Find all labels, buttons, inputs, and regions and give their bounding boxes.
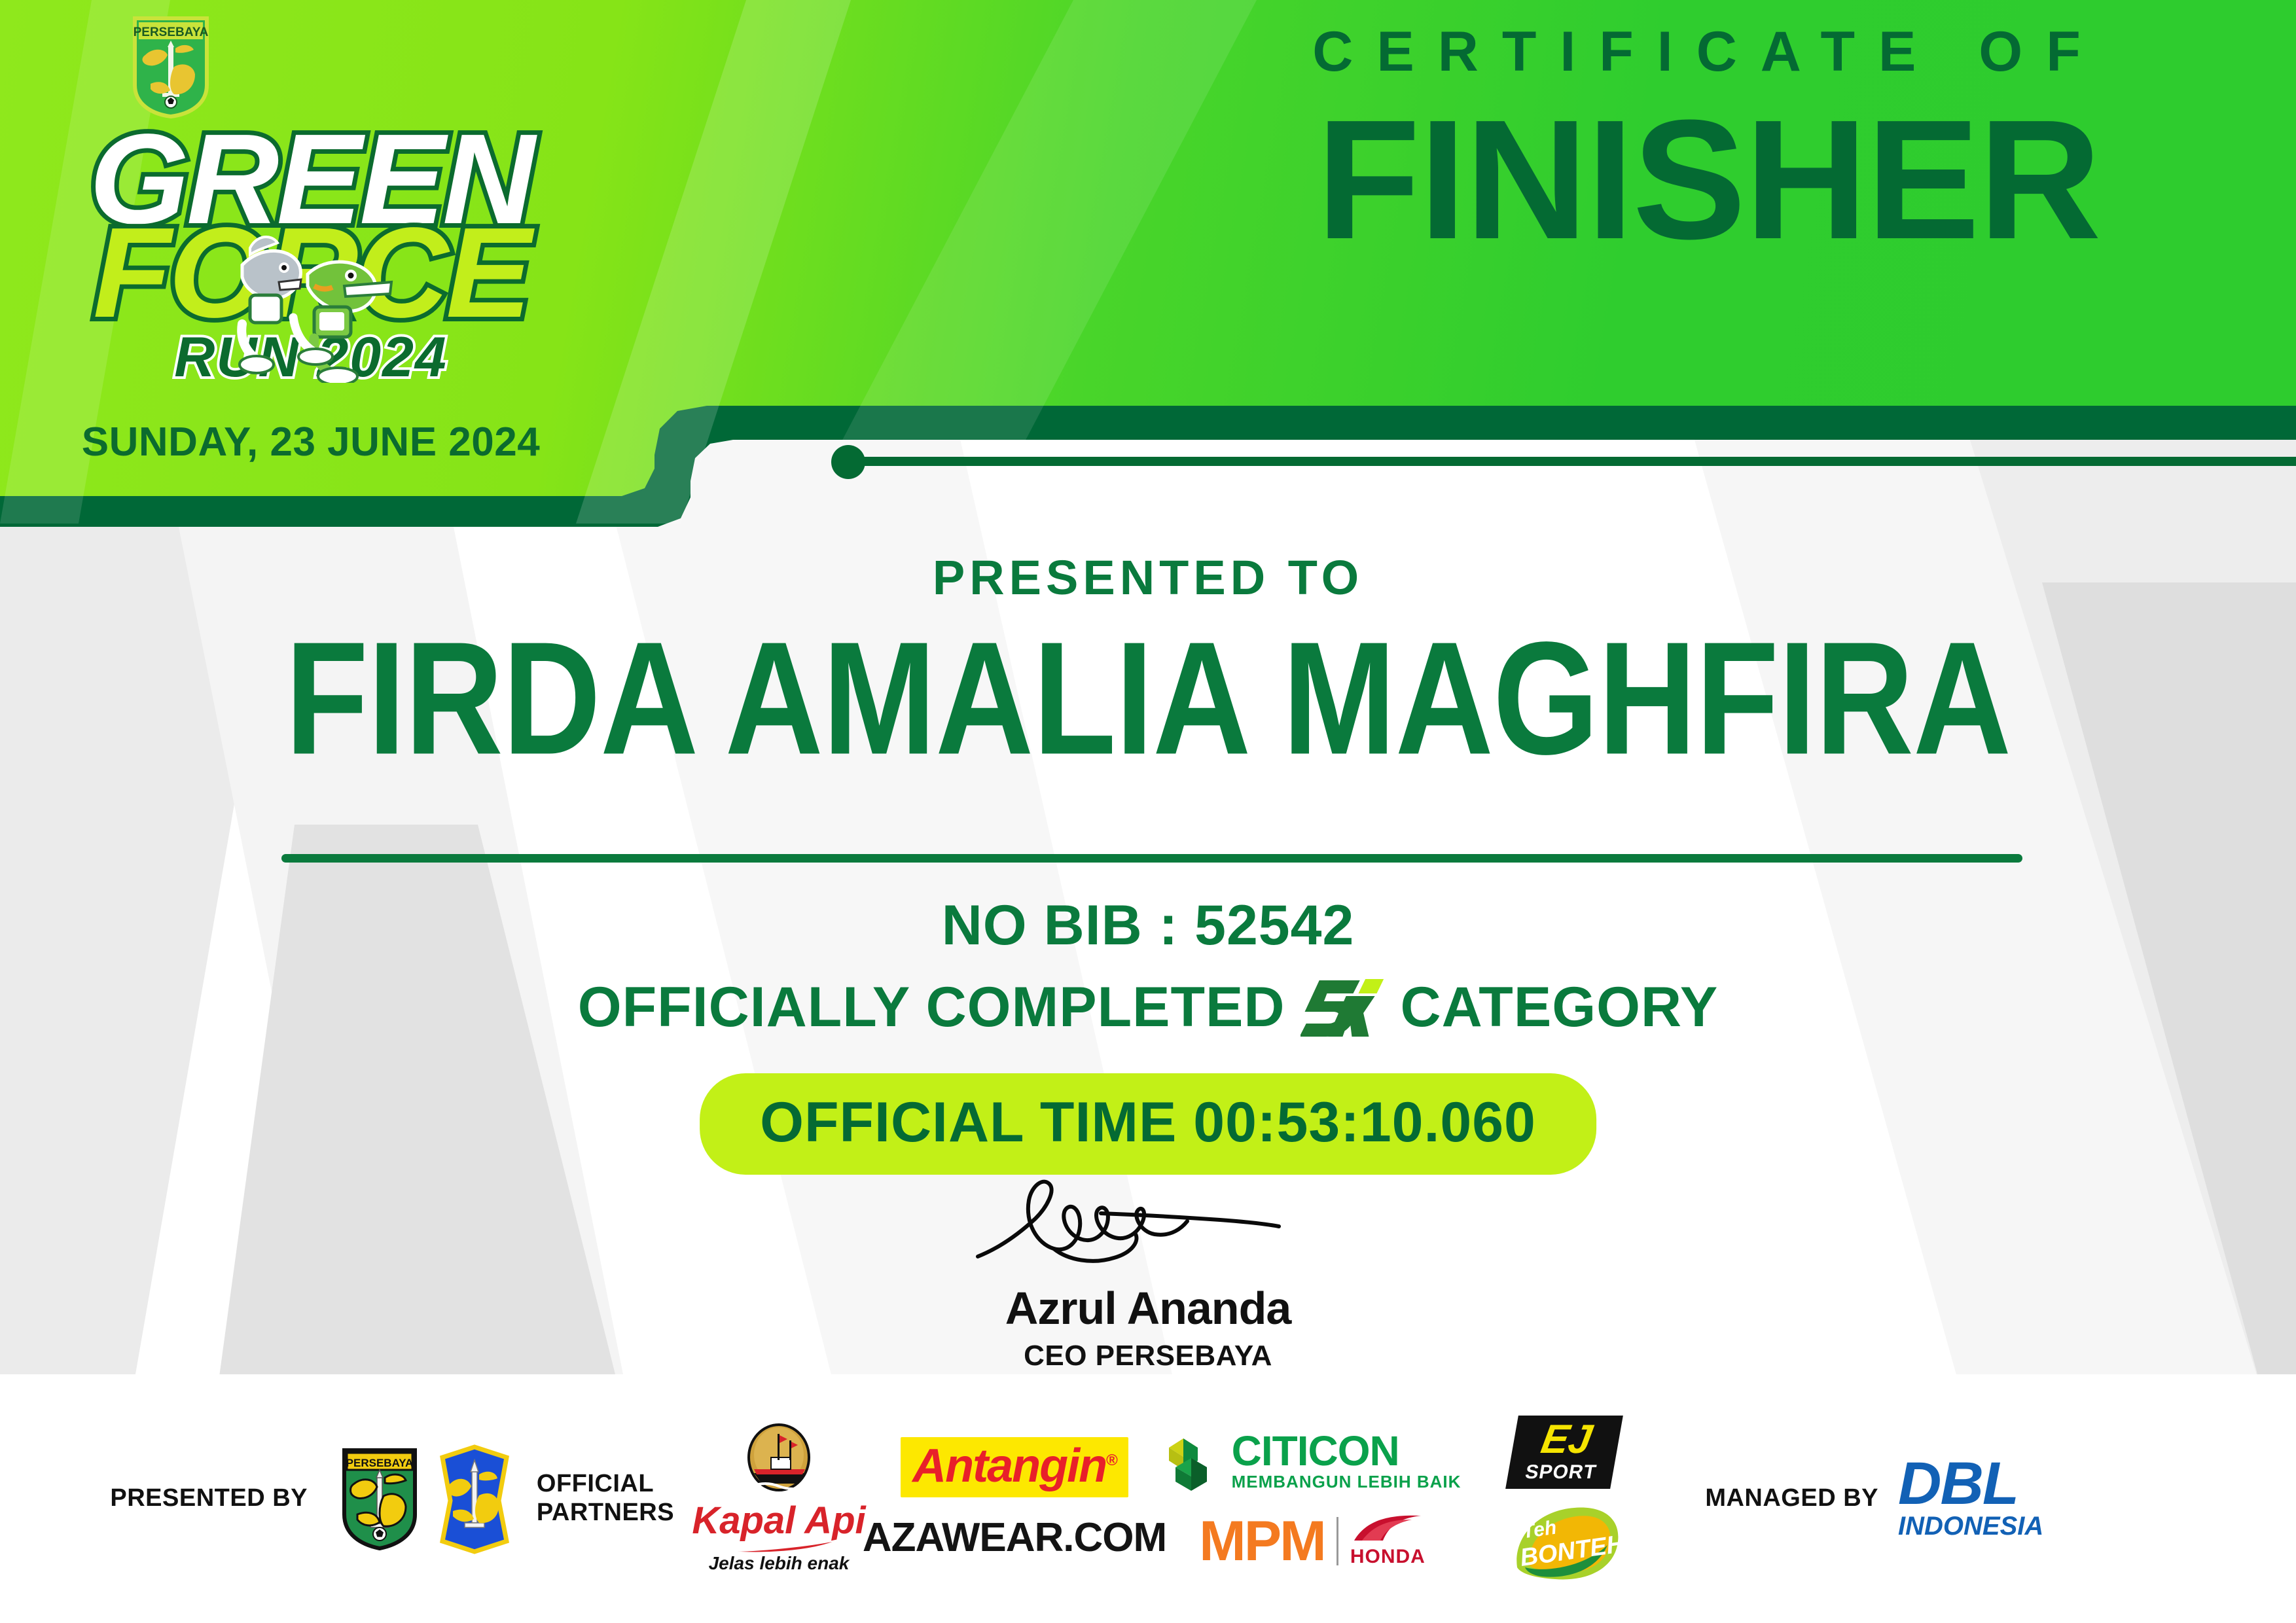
mpm-divider bbox=[1336, 1517, 1338, 1565]
teh-bonteh-logo: Teh BONTEH bbox=[1505, 1505, 1623, 1582]
ej-wordmark: EJ bbox=[1510, 1416, 1623, 1461]
antangin-wordmark: Antangin® bbox=[901, 1437, 1128, 1497]
logo-kapal-api: Kapal Api Jelas lebih enak bbox=[687, 1423, 870, 1574]
antangin-registered-mark: ® bbox=[1106, 1452, 1117, 1469]
managed-by-group: MANAGED BY bbox=[1662, 1484, 1898, 1513]
svg-text:PERSEBAYA: PERSEBAYA bbox=[134, 26, 209, 39]
presented-by-group: PRESENTED BY bbox=[0, 1484, 334, 1513]
accent-dot-icon bbox=[831, 445, 865, 479]
honda-wing-icon bbox=[1352, 1514, 1424, 1546]
teh-bonteh-top: Teh bbox=[1521, 1518, 1558, 1543]
bib-number-line: NO BIB : 52542 bbox=[0, 893, 2296, 958]
citicon-wordmark: CITICON bbox=[1232, 1430, 1462, 1472]
mpm-wordmark: MPM bbox=[1199, 1513, 1325, 1569]
sponsor-footer: PRESENTED BY PERSEBAYA bbox=[0, 1374, 2296, 1623]
honda-logo: HONDA bbox=[1350, 1514, 1426, 1568]
certificate-canvas: PERSEBAYA GREEN FORCE RUN 2024 bbox=[0, 0, 2296, 1623]
persebaya-crest-icon: PERSEBAYA bbox=[131, 14, 211, 119]
presented-to-label: PRESENTED TO bbox=[0, 550, 2296, 605]
mpm-honda-logo: MPM HONDA bbox=[1199, 1513, 1426, 1569]
mascot-runners-icon bbox=[216, 226, 406, 383]
signature-icon bbox=[0, 1171, 2296, 1279]
azawear-wordmark: AZAWEAR.COM bbox=[863, 1514, 1166, 1561]
kapal-api-wordmark: Kapal Api bbox=[692, 1502, 865, 1540]
official-time-badge: OFFICIAL TIME 00:53:10.060 bbox=[700, 1073, 1596, 1175]
antangin-text: Antangin bbox=[912, 1440, 1106, 1492]
signature-block: Azrul Ananda CEO PERSEBAYA bbox=[0, 1171, 2296, 1372]
dbl-wordmark: DBL bbox=[1898, 1456, 2018, 1512]
logo-persebaya: PERSEBAYA bbox=[334, 1446, 425, 1551]
presented-by-label: PRESENTED BY bbox=[110, 1484, 308, 1513]
official-partners-group: OFFICIAL PARTNERS bbox=[524, 1470, 687, 1527]
sponsor-column-antangin-azawear: Antangin® AZAWEAR.COM bbox=[870, 1437, 1158, 1561]
managed-by-label: MANAGED BY bbox=[1705, 1484, 1878, 1513]
logo-dbl-indonesia: DBL INDONESIA bbox=[1898, 1456, 2081, 1541]
dbl-indonesia-sub: INDONESIA bbox=[1898, 1512, 2043, 1541]
svg-text:PERSEBAYA: PERSEBAYA bbox=[346, 1457, 414, 1469]
header-accent-dotline bbox=[831, 445, 2296, 465]
citicon-blocks-icon bbox=[1164, 1428, 1223, 1493]
official-partners-label: OFFICIAL PARTNERS bbox=[537, 1470, 674, 1527]
citicon-tagline: MEMBANGUN LEBIH BAIK bbox=[1232, 1472, 1462, 1492]
official-partners-line1: OFFICIAL bbox=[537, 1470, 674, 1499]
honda-wordmark: HONDA bbox=[1350, 1546, 1426, 1568]
logo-surabaya-city bbox=[425, 1443, 524, 1554]
signatory-name: Azrul Ananda bbox=[0, 1282, 2296, 1334]
category-line: OFFICIALLY COMPLETED CATEGORY bbox=[0, 975, 2296, 1040]
certificate-body: PRESENTED TO FIRDA AMALIA MAGHFIRA NO BI… bbox=[0, 497, 2296, 1374]
certificate-of-label: CERTIFICATE OF bbox=[1165, 20, 2251, 84]
sponsor-column-ej-bonteh: EJ SPORT Teh BONTEH bbox=[1466, 1416, 1662, 1582]
signatory-role: CEO PERSEBAYA bbox=[0, 1340, 2296, 1372]
recipient-name: FIRDA AMALIA MAGHFIRA bbox=[0, 618, 2296, 779]
name-underline-rule bbox=[281, 854, 2022, 863]
event-date: SUNDAY, 23 JUNE 2024 bbox=[39, 419, 583, 465]
kapal-api-ship-icon bbox=[740, 1423, 818, 1502]
citicon-logo: CITICON MEMBANGUN LEBIH BAIK bbox=[1164, 1428, 1462, 1493]
accent-bar bbox=[857, 457, 2296, 466]
ej-sport-logo: EJ SPORT bbox=[1505, 1416, 1623, 1489]
surabaya-city-crest-icon bbox=[436, 1443, 513, 1554]
persebaya-shield-icon: PERSEBAYA bbox=[340, 1446, 419, 1551]
completed-prefix: OFFICIALLY COMPLETED bbox=[578, 975, 1285, 1040]
finisher-title: FINISHER bbox=[1152, 95, 2265, 265]
sponsor-column-citicon-mpm: CITICON MEMBANGUN LEBIH BAIK MPM HONDA bbox=[1158, 1428, 1466, 1569]
category-5k-icon bbox=[1300, 976, 1384, 1039]
kapal-api-swoosh-icon bbox=[717, 1539, 841, 1553]
completed-suffix: CATEGORY bbox=[1400, 975, 1718, 1040]
kapal-api-tagline: Jelas lebih enak bbox=[709, 1553, 850, 1574]
official-partners-line2: PARTNERS bbox=[537, 1499, 674, 1527]
ej-sport-sub: SPORT bbox=[1505, 1461, 1615, 1489]
